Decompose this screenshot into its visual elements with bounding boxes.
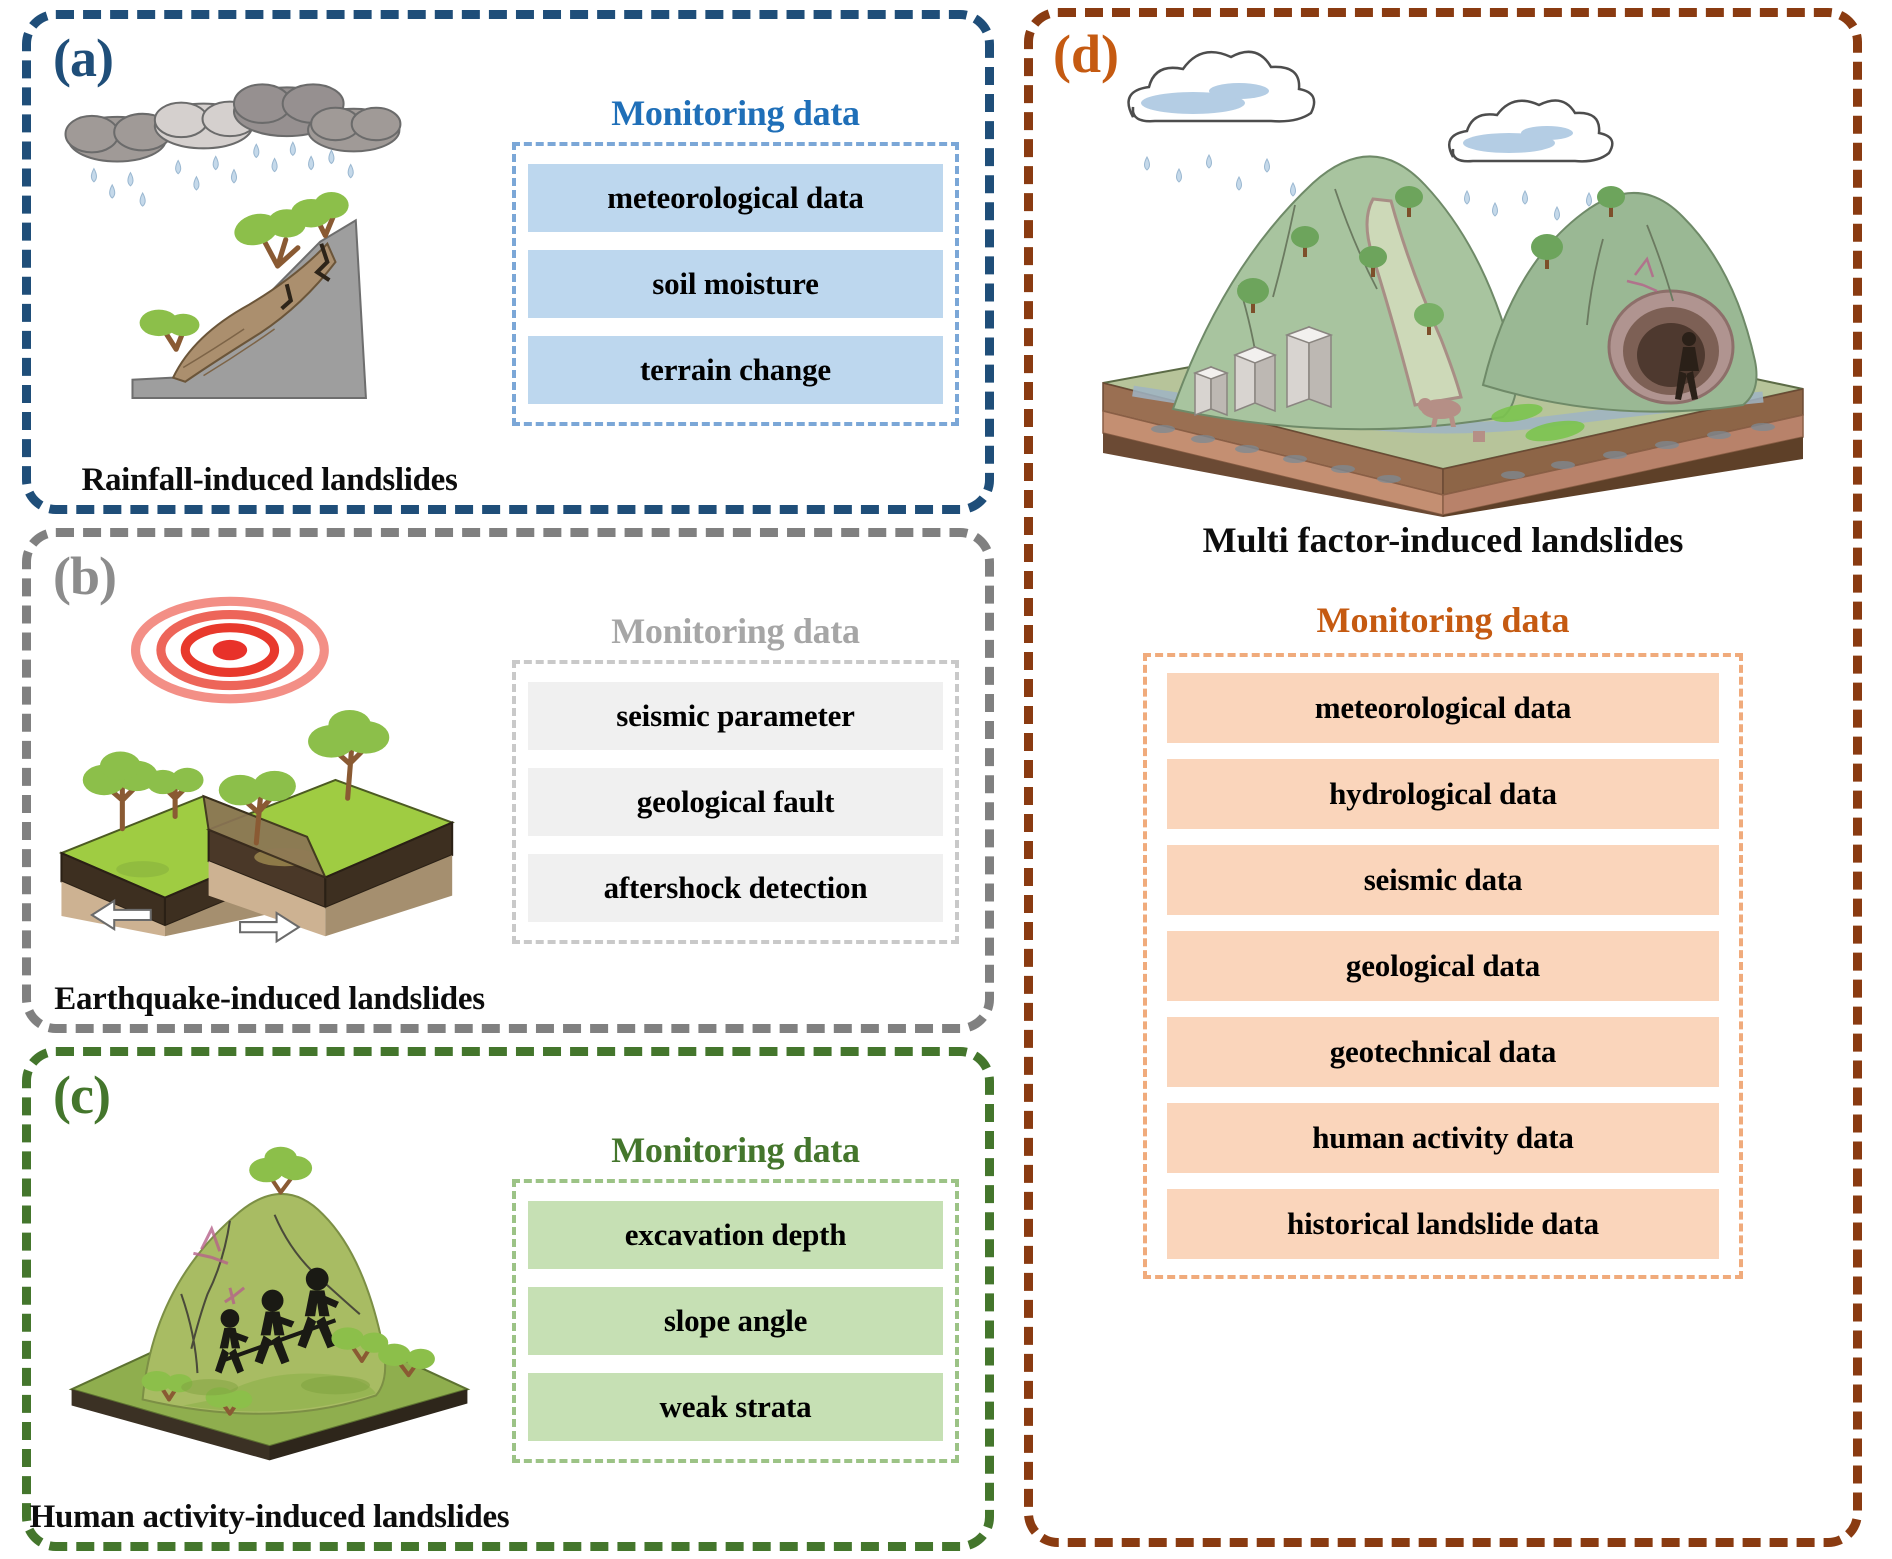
seismic-wave-icon <box>136 602 325 699</box>
landslide-monitoring-figure: (a) <box>0 0 1892 1559</box>
panel-a-illustration-side: Rainfall-induced landslides <box>31 19 508 505</box>
panel-letter-b: (b) <box>53 545 116 607</box>
panel-a-monitoring-data: Monitoring data meteorological data soil… <box>508 19 985 505</box>
panel-d-chip-group: meteorological data hydrological data se… <box>1143 653 1743 1279</box>
data-chip[interactable]: aftershock detection <box>528 854 943 922</box>
panel-b-illustration-side: Earthquake-induced landslides <box>31 537 508 1023</box>
data-chip[interactable]: excavation depth <box>528 1201 943 1269</box>
panel-letter-c: (c) <box>53 1064 110 1126</box>
panel-c-monitoring-data: Monitoring data excavation depth slope a… <box>508 1056 985 1542</box>
panel-c-illustration-side: Human activity-induced landslides <box>31 1056 508 1542</box>
data-chip[interactable]: meteorological data <box>528 164 943 232</box>
data-chip[interactable]: geological data <box>1167 931 1719 1001</box>
panel-letter-d: (d) <box>1053 23 1119 85</box>
data-chip[interactable]: historical landslide data <box>1167 1189 1719 1259</box>
data-chip[interactable]: human activity data <box>1167 1103 1719 1173</box>
data-chip[interactable]: terrain change <box>528 336 943 404</box>
data-chip[interactable]: meteorological data <box>1167 673 1719 743</box>
panel-earthquake-induced: (b) <box>22 528 994 1032</box>
multi-factor-terrain-block-illustration <box>1033 17 1853 517</box>
right-panel-column: (d) <box>1010 0 1892 1559</box>
data-chip[interactable]: geotechnical data <box>1167 1017 1719 1087</box>
panel-letter-a: (a) <box>53 27 113 89</box>
panel-b-monitoring-title: Monitoring data <box>611 610 860 652</box>
panel-c-monitoring-title: Monitoring data <box>611 1129 860 1171</box>
panel-b-chip-group: seismic parameter geological fault after… <box>512 660 959 944</box>
data-chip[interactable]: seismic parameter <box>528 682 943 750</box>
data-chip[interactable]: geological fault <box>528 768 943 836</box>
data-chip[interactable]: weak strata <box>528 1373 943 1441</box>
left-panel-column: (a) <box>0 0 1010 1559</box>
panel-rainfall-induced: (a) <box>22 10 994 514</box>
panel-c-caption: Human activity-induced landslides <box>30 1499 510 1536</box>
data-chip[interactable]: hydrological data <box>1167 759 1719 829</box>
panel-c-chip-group: excavation depth slope angle weak strata <box>512 1179 959 1463</box>
panel-b-caption: Earthquake-induced landslides <box>54 981 485 1018</box>
panel-d-caption: Multi factor-induced landslides <box>1203 519 1684 561</box>
panel-human-activity-induced: (c) <box>22 1047 994 1551</box>
panel-a-monitoring-title: Monitoring data <box>611 92 860 134</box>
data-chip[interactable]: soil moisture <box>528 250 943 318</box>
panel-a-chip-group: meteorological data soil moisture terrai… <box>512 142 959 426</box>
panel-d-monitoring-title: Monitoring data <box>1316 599 1569 641</box>
panel-multi-factor-induced: (d) <box>1024 8 1862 1547</box>
data-chip[interactable]: seismic data <box>1167 845 1719 915</box>
panel-a-caption: Rainfall-induced landslides <box>81 462 457 499</box>
data-chip[interactable]: slope angle <box>528 1287 943 1355</box>
panel-b-monitoring-data: Monitoring data seismic parameter geolog… <box>508 537 985 1023</box>
